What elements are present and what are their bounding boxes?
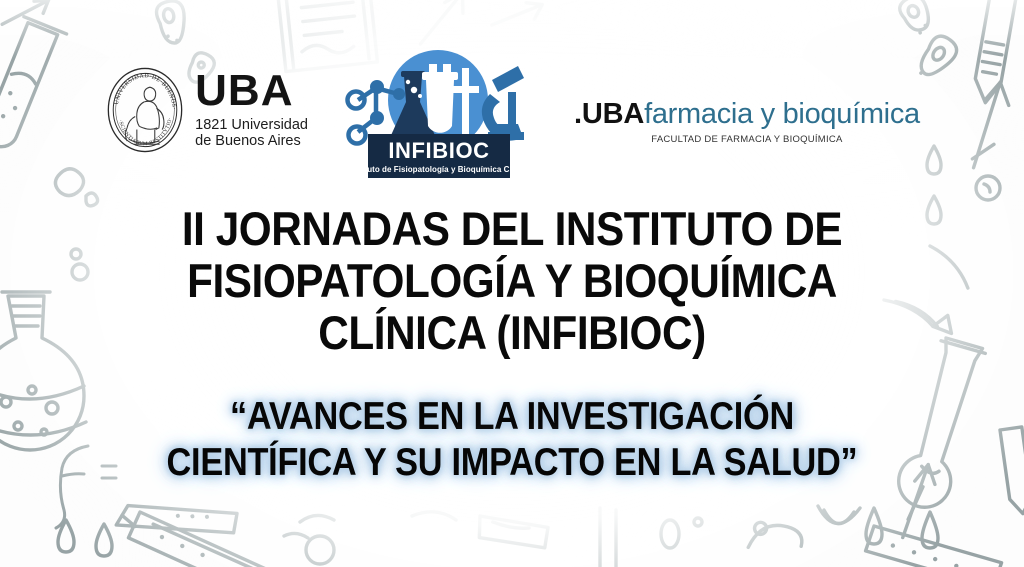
- uba-subtitle: 1821 Universidad de Buenos Aires: [195, 117, 308, 149]
- farmacia-wordmark: .UBAfarmacia y bioquímica: [574, 100, 920, 129]
- uba-seal-icon: UNIVERSIDAD·DE·BUENOS·AIRES ·SCIENTIARVM…: [104, 66, 186, 154]
- title-line-3: CLÍNICA (INFIBIOC): [51, 307, 973, 359]
- uba-subtitle-line1: 1821 Universidad: [195, 117, 308, 133]
- uba-subtitle-line2: de Buenos Aires: [195, 133, 308, 149]
- page-subtitle: “AVANCES EN LA INVESTIGACIÓN CIENTÍFICA …: [0, 394, 1024, 486]
- farmacia-logo: .UBAfarmacia y bioquímica FACULTAD DE FA…: [574, 100, 920, 145]
- subtitle-line-2: CIENTÍFICA Y SU IMPACTO EN LA SALUD”: [61, 440, 962, 486]
- farmacia-uba-prefix: .UBA: [574, 98, 644, 130]
- uba-text-block: UBA 1821 Universidad de Buenos Aires: [195, 71, 308, 149]
- uba-wordmark: UBA: [195, 71, 308, 111]
- logo-row: UNIVERSIDAD·DE·BUENOS·AIRES ·SCIENTIARVM…: [0, 48, 1024, 188]
- title-line-1: II JORNADAS DEL INSTITUTO DE: [51, 203, 973, 255]
- title-line-2: FISIOPATOLOGÍA Y BIOQUÍMICA: [51, 255, 973, 307]
- svg-text:UNIVERSIDAD·DE·BUENOS·AIRES: UNIVERSIDAD·DE·BUENOS·AIRES: [104, 66, 177, 110]
- infibioc-logo: INFIBIOC Instituto de Fisiopatología y B…: [342, 46, 534, 178]
- subtitle-line-1: “AVANCES EN LA INVESTIGACIÓN: [61, 394, 962, 440]
- farmacia-name: farmacia y bioquímica: [644, 98, 920, 130]
- farmacia-faculty-line: FACULTAD DE FARMACIA Y BIOQUÍMICA: [574, 134, 920, 145]
- conference-poster: UNIVERSIDAD·DE·BUENOS·AIRES ·SCIENTIARVM…: [0, 0, 1024, 567]
- uba-logo: UNIVERSIDAD·DE·BUENOS·AIRES ·SCIENTIARVM…: [104, 66, 308, 154]
- page-title: II JORNADAS DEL INSTITUTO DE FISIOPATOLO…: [0, 203, 1024, 359]
- infibioc-tagline: Instituto de Fisiopatología y Bioquímica…: [348, 165, 531, 174]
- infibioc-name: INFIBIOC: [388, 138, 489, 163]
